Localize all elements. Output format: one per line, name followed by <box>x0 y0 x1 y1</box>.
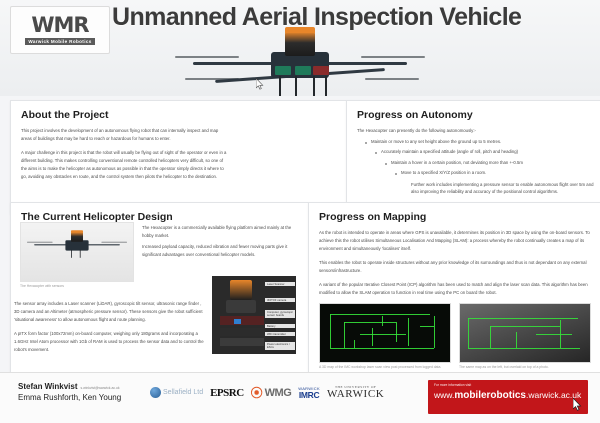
mapping-body: As the robot is intended to operate in a… <box>319 229 600 297</box>
sponsor-logos: Sellafield Ltd EPSRC ⦿ WMG WARWICK IMRC … <box>150 384 384 401</box>
hexacopter-photo <box>20 222 134 282</box>
sponsor-label: Sellafield Ltd <box>163 389 203 396</box>
list-item: Accurately maintain a specified attitude… <box>381 149 600 156</box>
overlay-map-caption: The same map as on the left, but overlai… <box>459 365 589 369</box>
autonomy-intro: The Hexacopter can presently do the foll… <box>357 127 600 135</box>
sponsor-label: WARWICK <box>327 389 384 400</box>
mouse-cursor-secondary <box>256 78 264 90</box>
sponsor-label: IMRC <box>298 391 320 399</box>
authors-secondary: Emma Rushforth, Ken Young <box>18 393 121 402</box>
website-url[interactable]: www.mobilerobotics.warwick.ac.uk <box>434 390 582 401</box>
design-body-text: The sensor array includes a Laser scanne… <box>14 300 206 360</box>
sponsor-university-of-warwick: THE UNIVERSITY OF WARWICK <box>327 385 384 400</box>
poster-header: WMR Warwick Mobile Robotics Unmanned Aer… <box>0 0 600 96</box>
list-item: Move to a specified X/Y/Z position in a … <box>401 170 600 177</box>
sponsor-wmg: ⦿ WMG <box>251 384 292 401</box>
autonomy-closing-text: Further work includes implementing a pre… <box>411 182 600 196</box>
list-item: Maintain or move to any set height above… <box>371 139 600 146</box>
lidar-map-image <box>319 303 451 363</box>
design-intro-2: Increased payload capacity, reduced vibr… <box>142 243 292 259</box>
sensor-label: 3D/TOF camera <box>265 298 295 302</box>
design-body-1: The sensor array includes a Laser scanne… <box>14 300 206 324</box>
wmr-logo-subtitle: Warwick Mobile Robotics <box>25 38 94 45</box>
header-drone-illustration <box>175 34 425 96</box>
url-prefix: www. <box>434 390 454 400</box>
sensor-label: Laser Scanner <box>265 282 295 286</box>
mapping-panel: Progress on Mapping As the robot is inte… <box>308 202 600 380</box>
sponsor-label: WMG <box>265 387 292 399</box>
website-banner-label: For more information visit <box>434 383 582 387</box>
sponsor-imrc: WARWICK IMRC <box>298 386 320 399</box>
sensor-label: Power electronics / ESCs <box>265 342 295 350</box>
overlay-map-image <box>459 303 591 363</box>
list-item: Maintain a hover in a certain position, … <box>391 160 600 167</box>
autonomy-panel: Progress on Autonomy The Hexacopter can … <box>346 100 600 214</box>
mapping-title: Progress on Mapping <box>319 211 600 223</box>
sponsor-epsrc: EPSRC <box>210 387 244 399</box>
lidar-map-caption: A 3D map of the IMC workshop laser scan … <box>319 365 449 369</box>
page-title: Unmanned Aerial Inspection Vehicle <box>112 3 521 32</box>
sponsor-sellafield: Sellafield Ltd <box>150 387 203 398</box>
mapping-paragraph-3: A variant of the popular Iterative Close… <box>319 281 600 297</box>
website-banner[interactable]: For more information visit www.mobilerob… <box>428 380 588 414</box>
wmr-logo: WMR Warwick Mobile Robotics <box>10 6 110 54</box>
sensor-label: Battery <box>265 324 295 328</box>
hexacopter-photo-caption: The Hexacopter with sensors <box>20 284 132 288</box>
mapping-images: A 3D map of the IMC workshop laser scan … <box>319 303 600 369</box>
mapping-paragraph-2: This enables the robot to operate inside… <box>319 259 600 275</box>
about-body: This project involves the development of… <box>21 127 227 181</box>
design-intro-1: The Hexacopter is a commercially availab… <box>142 224 292 240</box>
design-intro-text: The Hexacopter is a commercially availab… <box>142 224 292 265</box>
autonomy-title: Progress on Autonomy <box>357 109 600 121</box>
author-email: s.winkvist@warwick.ac.uk <box>81 386 120 390</box>
author-primary: Stefan Winkvists.winkvist@warwick.ac.uk <box>18 382 121 391</box>
design-body-2: A pITX form factor (100x72mm) on-board c… <box>14 330 206 354</box>
autonomy-intro-wrap: The Hexacopter can presently do the foll… <box>357 127 600 135</box>
autonomy-bullet-list: Maintain or move to any set height above… <box>357 139 600 177</box>
wmg-swirl-icon: ⦿ <box>251 384 263 401</box>
wmr-logo-mark: WMR <box>31 15 88 36</box>
sensor-label: WiFi transmitter <box>265 332 295 336</box>
about-paragraph-1: This project involves the development of… <box>21 127 227 143</box>
about-panel: About the Project This project involves … <box>10 100 362 214</box>
sensor-label: Computer, gyroscopic sensor boards <box>265 310 295 318</box>
about-paragraph-2: A major challenge in this project is tha… <box>21 149 227 181</box>
author-block: Stefan Winkvists.winkvist@warwick.ac.uk … <box>18 382 121 402</box>
url-brand: mobilerobotics <box>454 390 526 401</box>
mapping-paragraph-1: As the robot is intended to operate in a… <box>319 229 600 253</box>
mouse-cursor <box>573 398 582 411</box>
poster-root: WMR Warwick Mobile Robotics Unmanned Aer… <box>0 0 600 422</box>
about-title: About the Project <box>21 109 351 121</box>
sellafield-icon <box>150 387 161 398</box>
annotated-sensor-photo: Laser Scanner 3D/TOF camera Computer, gy… <box>212 276 296 354</box>
author-primary-name: Stefan Winkvist <box>18 382 78 391</box>
